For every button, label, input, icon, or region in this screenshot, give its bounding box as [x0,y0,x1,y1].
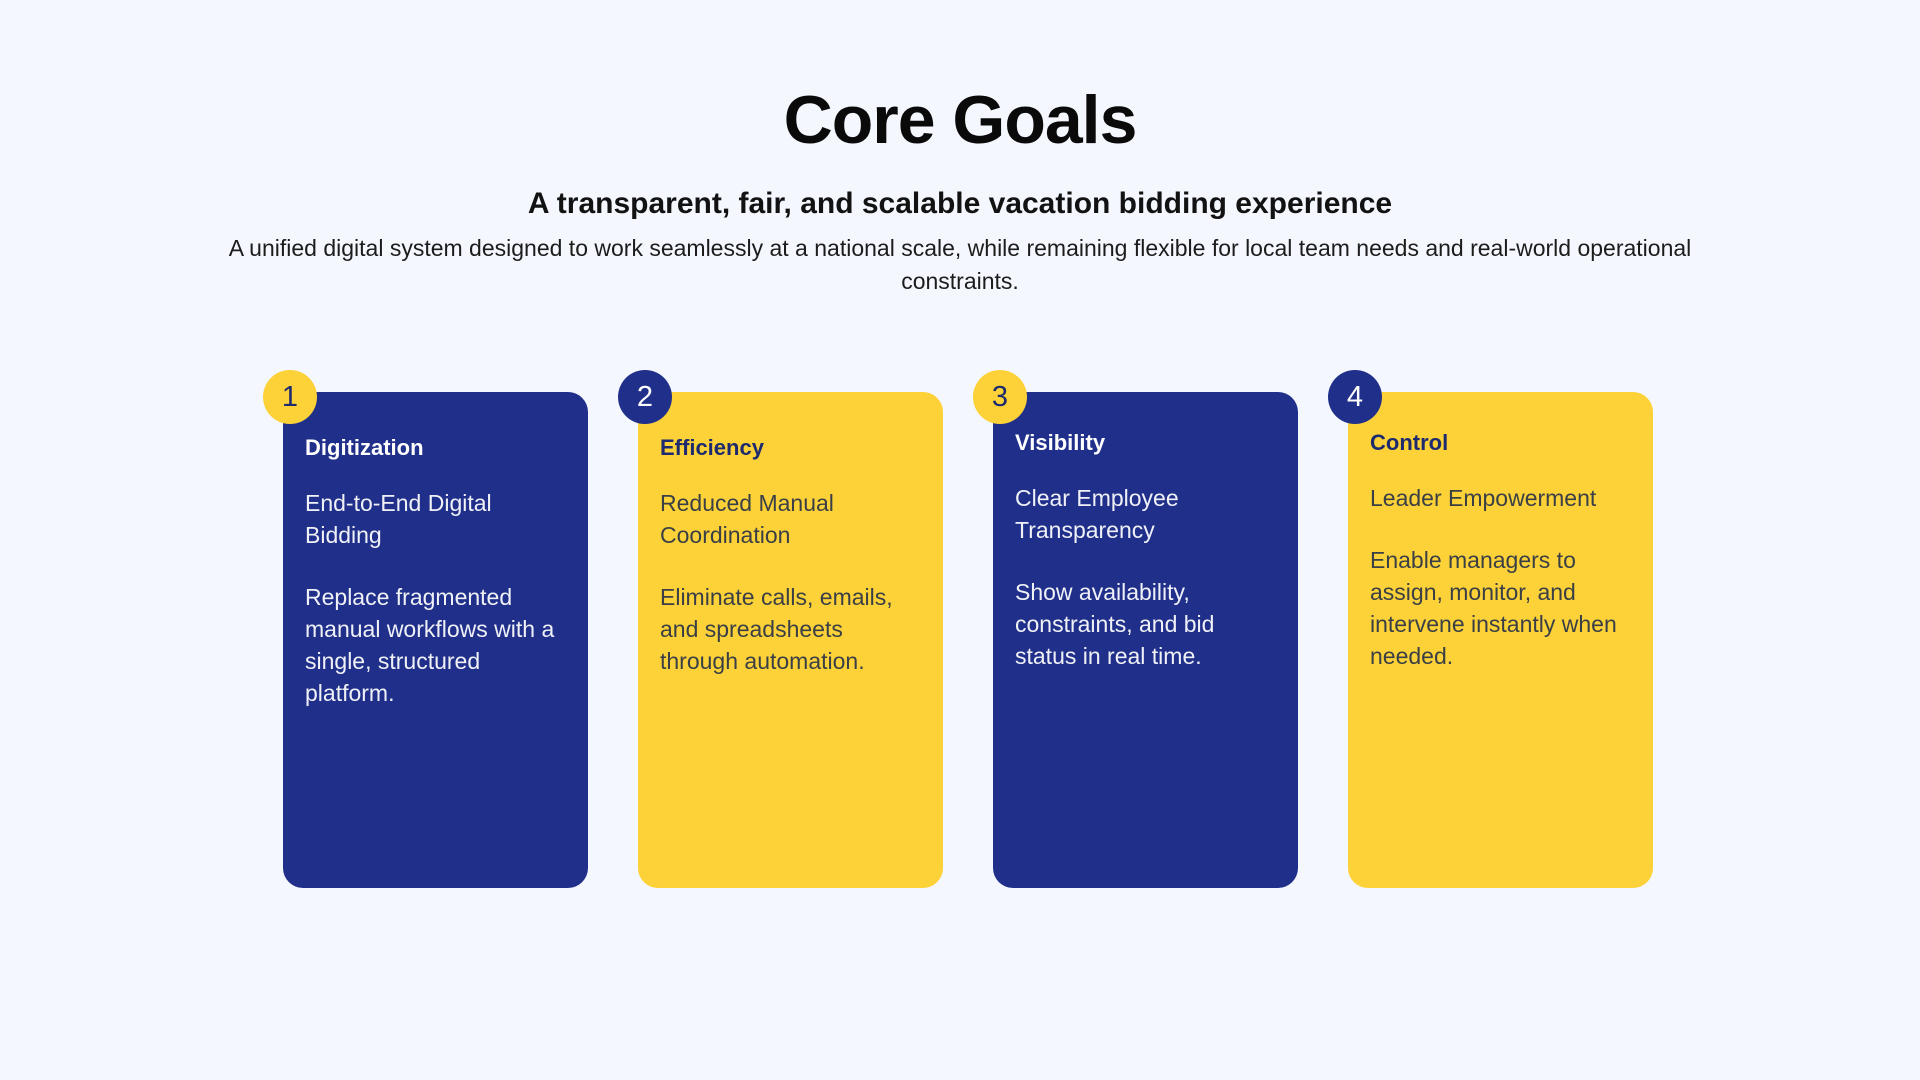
slide-header: Core Goals A transparent, fair, and scal… [0,86,1920,297]
goal-card-3[interactable]: Visibility Clear Employee Transparency S… [993,392,1298,888]
goal-card-1-title: Digitization [305,435,424,461]
goal-card-3-subtitle: Clear Employee Transparency [1015,483,1280,547]
goal-card-3-surface[interactable]: Visibility Clear Employee Transparency S… [993,392,1298,888]
goal-card-3-body: Clear Employee Transparency Show availab… [1015,483,1280,673]
goal-card-3-text: Show availability, constraints, and bid … [1015,577,1280,673]
goal-card-1-number-badge: 1 [263,370,317,424]
slide-root: Core Goals A transparent, fair, and scal… [0,0,1920,1080]
goal-card-1-surface[interactable]: Digitization End-to-End Digital Bidding … [283,392,588,888]
goal-card-4-number-badge: 4 [1328,370,1382,424]
page-description: A unified digital system designed to wor… [180,232,1740,297]
goal-card-2-number-badge: 2 [618,370,672,424]
goal-card-4-surface[interactable]: Control Leader Empowerment Enable manage… [1348,392,1653,888]
goal-card-2-surface[interactable]: Efficiency Reduced Manual Coordination E… [638,392,943,888]
goal-card-2-text: Eliminate calls, emails, and spreadsheet… [660,582,925,678]
goal-card-4-body: Leader Empowerment Enable managers to as… [1370,483,1635,673]
goal-card-3-number-badge: 3 [973,370,1027,424]
goal-card-4[interactable]: Control Leader Empowerment Enable manage… [1348,392,1653,888]
goal-cards-row: Digitization End-to-End Digital Bidding … [283,392,1663,892]
goal-card-2-body: Reduced Manual Coordination Eliminate ca… [660,488,925,678]
goal-card-1[interactable]: Digitization End-to-End Digital Bidding … [283,392,588,888]
goal-card-1-body: End-to-End Digital Bidding Replace fragm… [305,488,570,710]
goal-card-1-text: Replace fragmented manual workflows with… [305,582,570,710]
page-subtitle: A transparent, fair, and scalable vacati… [0,186,1920,222]
page-title: Core Goals [0,86,1920,154]
goal-card-4-text: Enable managers to assign, monitor, and … [1370,545,1635,673]
goal-card-2-subtitle: Reduced Manual Coordination [660,488,925,552]
goal-card-1-subtitle: End-to-End Digital Bidding [305,488,570,552]
goal-card-4-subtitle: Leader Empowerment [1370,483,1635,515]
goal-card-4-title: Control [1370,430,1448,456]
goal-card-3-title: Visibility [1015,430,1105,456]
goal-card-2[interactable]: Efficiency Reduced Manual Coordination E… [638,392,943,888]
goal-card-2-title: Efficiency [660,435,764,461]
